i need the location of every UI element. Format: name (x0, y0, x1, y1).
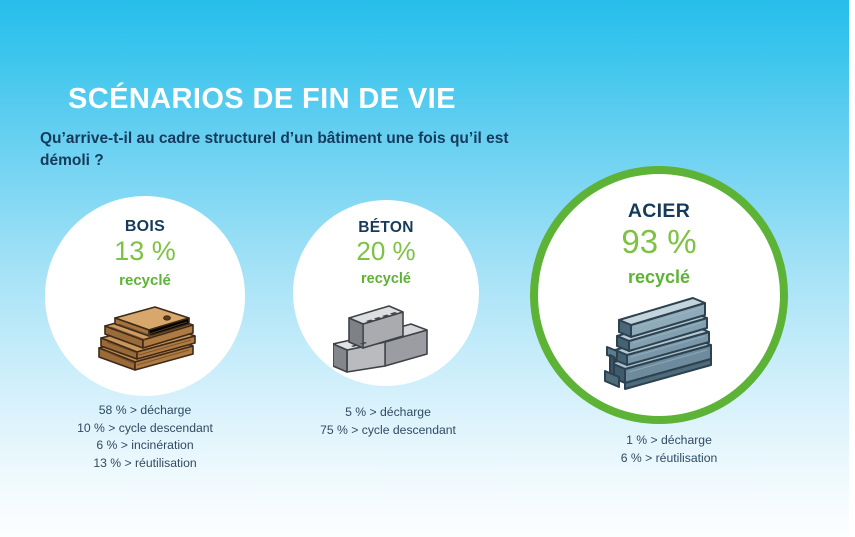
header: SCÉNARIOS DE FIN DE VIE Qu’arrive-t-il a… (68, 84, 588, 172)
breakdown-line: 13 % > réutilisation (60, 455, 230, 473)
material-label-acier: ACIER (538, 200, 780, 223)
material-recycled-label-bois: recyclé (45, 272, 245, 289)
page-title: SCÉNARIOS DE FIN DE VIE (68, 84, 588, 116)
material-recycled-label-acier: recyclé (538, 267, 780, 288)
page-subtitle: Qu’arrive-t-il au cadre structurel d’un … (40, 128, 510, 172)
material-circle-bois[interactable]: BOIS 13 % recyclé (45, 196, 245, 396)
breakdown-bois: 58 % > décharge 10 % > cycle descendant … (60, 402, 230, 473)
breakdown-acier: 1 % > décharge 6 % > réutilisation (580, 432, 758, 467)
material-percent-acier: 93 % (538, 223, 780, 261)
material-recycled-label-beton: recyclé (293, 271, 479, 287)
icon-holder-acier (538, 297, 780, 397)
breakdown-line: 75 % > cycle descendant (300, 422, 476, 440)
breakdown-line: 5 % > décharge (300, 404, 476, 422)
concrete-blocks-icon (333, 298, 439, 376)
breakdown-line: 6 % > incinération (60, 437, 230, 455)
material-label-beton: BÉTON (293, 219, 479, 237)
breakdown-line: 10 % > cycle descendant (60, 420, 230, 438)
breakdown-line: 6 % > réutilisation (580, 450, 758, 468)
infographic-canvas: SCÉNARIOS DE FIN DE VIE Qu’arrive-t-il a… (0, 0, 855, 537)
breakdown-line: 1 % > décharge (580, 432, 758, 450)
material-circle-acier[interactable]: ACIER 93 % recyclé (530, 166, 788, 424)
icon-holder-bois (45, 300, 245, 372)
breakdown-line: 58 % > décharge (60, 402, 230, 420)
breakdown-beton: 5 % > décharge 75 % > cycle descendant (300, 404, 476, 439)
right-edge-strip (849, 0, 855, 537)
steel-beams-icon (593, 297, 725, 397)
icon-holder-beton (293, 298, 479, 376)
material-label-bois: BOIS (45, 218, 245, 236)
material-circle-beton[interactable]: BÉTON 20 % recyclé (293, 200, 479, 386)
material-percent-beton: 20 % (293, 236, 479, 267)
material-percent-bois: 13 % (45, 236, 245, 267)
wood-planks-icon (89, 300, 201, 372)
